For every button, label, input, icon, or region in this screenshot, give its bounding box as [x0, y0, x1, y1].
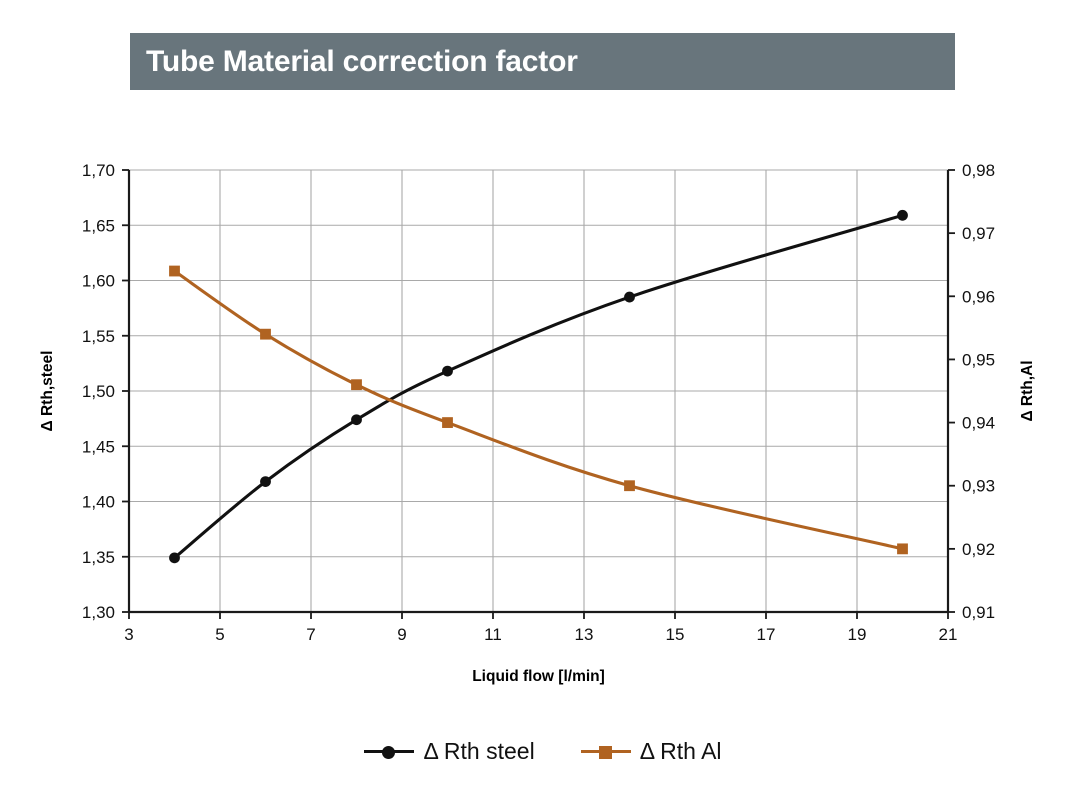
y-tick-label-right: 0,91	[962, 603, 995, 622]
x-tick-label: 5	[215, 625, 224, 644]
series-steel	[169, 210, 908, 563]
axis-tick-labels: 1,301,351,401,451,501,551,601,651,700,91…	[82, 161, 995, 644]
x-tick-label: 13	[575, 625, 594, 644]
chart-svg: 1,301,351,401,451,501,551,601,651,700,91…	[0, 0, 1086, 799]
data-point-marker	[260, 476, 271, 487]
legend-item-steel[interactable]: Δ Rth steel	[364, 738, 534, 765]
data-point-marker	[442, 417, 453, 428]
y-tick-label-left: 1,70	[82, 161, 115, 180]
y-tick-label-left: 1,45	[82, 437, 115, 456]
y-tick-label-right: 0,95	[962, 350, 995, 369]
x-tick-label: 17	[757, 625, 776, 644]
data-point-marker	[442, 366, 453, 377]
data-point-marker	[169, 266, 180, 277]
y-axis-title-right: Δ Rth,Al	[1019, 360, 1036, 421]
x-tick-label: 11	[484, 625, 502, 644]
data-point-marker	[169, 552, 180, 563]
y-tick-label-right: 0,92	[962, 540, 995, 559]
data-point-marker	[351, 379, 362, 390]
series-line	[175, 271, 903, 549]
x-tick-label: 15	[666, 625, 685, 644]
y-tick-label-right: 0,96	[962, 287, 995, 306]
y-tick-label-right: 0,98	[962, 161, 995, 180]
data-point-marker	[351, 414, 362, 425]
series-plot	[169, 210, 908, 563]
y-tick-label-left: 1,35	[82, 548, 115, 567]
y-tick-label-left: 1,30	[82, 603, 115, 622]
y-axis-title-left: Δ Rth,steel	[39, 351, 56, 432]
data-point-marker	[624, 292, 635, 303]
chart-canvas: 1,301,351,401,451,501,551,601,651,700,91…	[0, 0, 1086, 799]
y-tick-label-left: 1,60	[82, 272, 115, 291]
x-tick-label: 7	[306, 625, 315, 644]
chart-legend: Δ Rth steel Δ Rth Al	[0, 738, 1086, 765]
x-tick-label: 19	[848, 625, 867, 644]
legend-label-steel: Δ Rth steel	[423, 738, 534, 765]
y-tick-label-left: 1,40	[82, 493, 115, 512]
x-tick-label: 21	[939, 625, 958, 644]
data-point-marker	[624, 480, 635, 491]
data-point-marker	[897, 210, 908, 221]
x-tick-label: 3	[124, 625, 133, 644]
series-line	[175, 215, 903, 558]
legend-item-al[interactable]: Δ Rth Al	[581, 738, 722, 765]
series-al	[169, 266, 908, 555]
x-tick-label: 9	[397, 625, 406, 644]
y-tick-label-left: 1,50	[82, 382, 115, 401]
data-point-marker	[260, 329, 271, 340]
y-tick-label-right: 0,93	[962, 477, 995, 496]
legend-label-al: Δ Rth Al	[640, 738, 722, 765]
x-axis-title: Liquid flow [l/min]	[472, 668, 605, 685]
y-tick-label-left: 1,55	[82, 327, 115, 346]
y-tick-label-left: 1,65	[82, 216, 115, 235]
y-tick-label-right: 0,94	[962, 414, 995, 433]
legend-marker-square-icon	[581, 742, 631, 762]
legend-marker-circle-icon	[364, 742, 414, 762]
y-tick-label-right: 0,97	[962, 224, 995, 243]
axis-titles: Δ Rth,steelΔ Rth,AlLiquid flow [l/min]	[39, 351, 1036, 685]
data-point-marker	[897, 543, 908, 554]
